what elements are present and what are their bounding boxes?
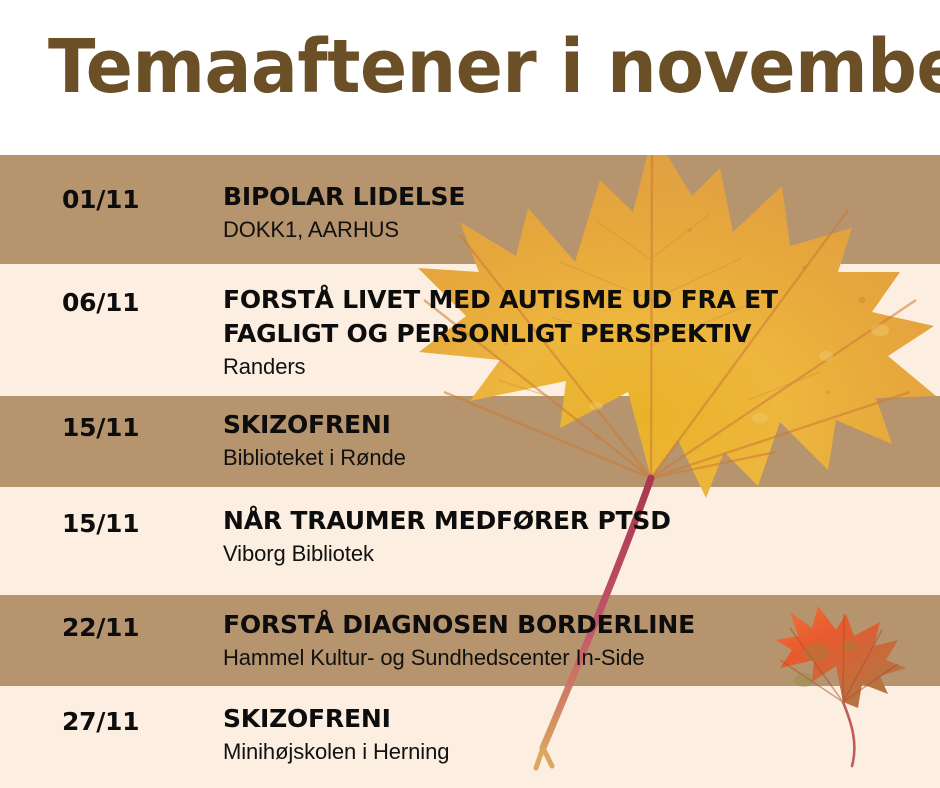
event-title: FORSTÅ LIVET MED AUTISME UD FRA ET FAGLI… [223,283,940,351]
event-row[interactable]: 27/11SKIZOFRENIMinihøjskolen i Herning [0,686,940,788]
event-body: SKIZOFRENIBiblioteket i Rønde [223,408,940,472]
event-date: 27/11 [62,707,139,736]
event-title: SKIZOFRENI [223,702,940,736]
event-venue: Randers [223,352,940,381]
event-venue: Hammel Kultur- og Sundhedscenter In-Side [223,643,940,672]
event-title: FORSTÅ DIAGNOSEN BORDERLINE [223,608,940,642]
event-venue: DOKK1, AARHUS [223,215,940,244]
event-venue: Viborg Bibliotek [223,539,940,568]
event-venue: Minihøjskolen i Herning [223,737,940,766]
event-row[interactable]: 01/11BIPOLAR LIDELSEDOKK1, AARHUS [0,155,940,264]
page-title: Temaaftener i november [48,24,940,110]
event-body: BIPOLAR LIDELSEDOKK1, AARHUS [223,180,940,244]
event-row[interactable]: 22/11FORSTÅ DIAGNOSEN BORDERLINEHammel K… [0,595,940,686]
event-date: 22/11 [62,613,139,642]
event-date: 06/11 [62,288,139,317]
event-title: NÅR TRAUMER MEDFØRER PTSD [223,504,940,538]
event-date: 15/11 [62,509,139,538]
event-body: SKIZOFRENIMinihøjskolen i Herning [223,702,940,766]
event-title: SKIZOFRENI [223,408,940,442]
event-title: BIPOLAR LIDELSE [223,180,940,214]
event-row[interactable]: 15/11NÅR TRAUMER MEDFØRER PTSDViborg Bib… [0,487,940,595]
event-venue: Biblioteket i Rønde [223,443,940,472]
event-date: 15/11 [62,413,139,442]
event-date: 01/11 [62,185,139,214]
event-row[interactable]: 15/11SKIZOFRENIBiblioteket i Rønde [0,396,940,487]
event-body: FORSTÅ LIVET MED AUTISME UD FRA ET FAGLI… [223,283,940,381]
event-body: NÅR TRAUMER MEDFØRER PTSDViborg Bibliote… [223,504,940,568]
poster-header: Temaaftener i november [0,0,940,155]
poster-canvas: 01/11BIPOLAR LIDELSEDOKK1, AARHUS06/11FO… [0,0,940,788]
event-row[interactable]: 06/11FORSTÅ LIVET MED AUTISME UD FRA ET … [0,264,940,396]
event-body: FORSTÅ DIAGNOSEN BORDERLINEHammel Kultur… [223,608,940,672]
